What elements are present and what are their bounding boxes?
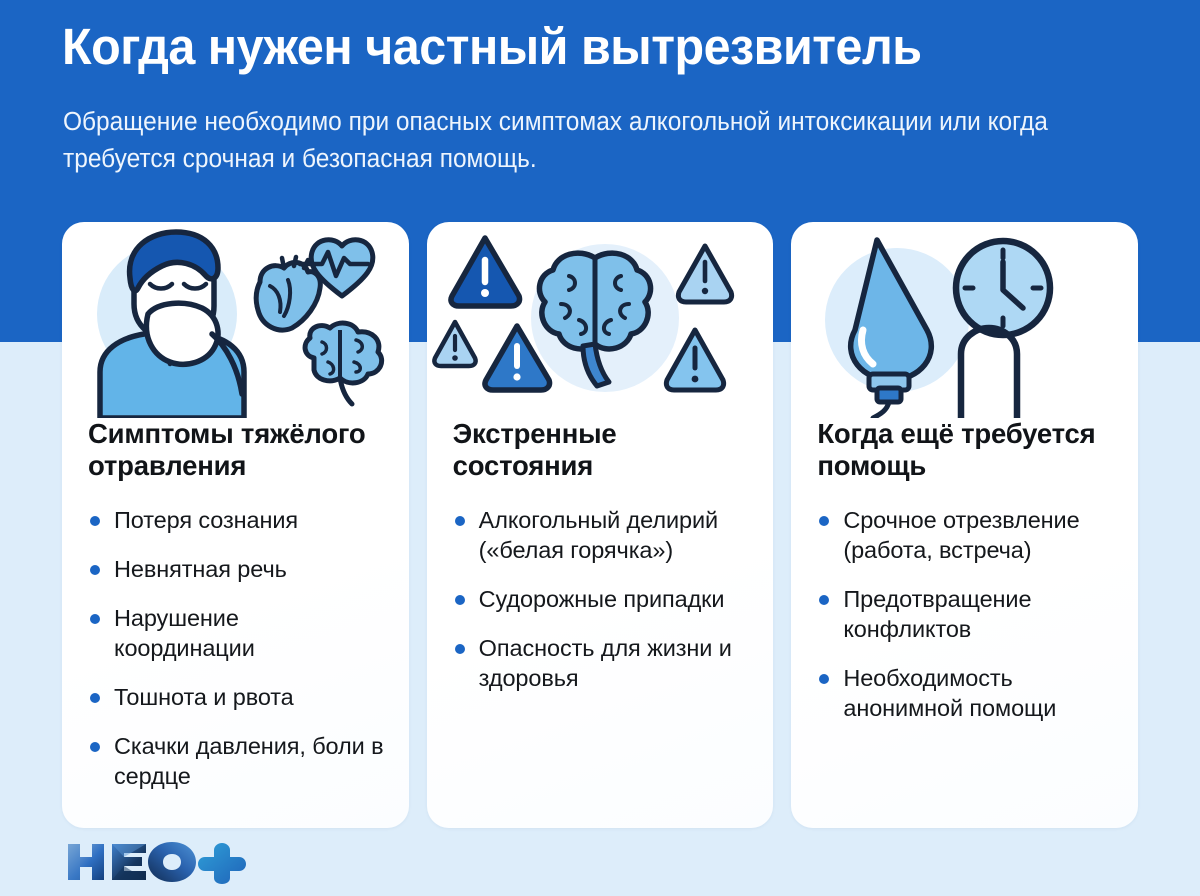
brain-warning-triangles-illustration (427, 222, 774, 418)
list-item: Судорожные припадки (453, 584, 750, 614)
list-item: Невнятная речь (88, 554, 385, 584)
warning-triangle-icon (678, 246, 731, 302)
sick-man-heart-brain-illustration (62, 222, 409, 418)
list-item: Предотвращение конфликтов (817, 584, 1114, 644)
card-emergency-conditions: Экстренные состояния Алкогольный делирий… (427, 222, 774, 828)
card-heading: Экстренные состояния (453, 418, 750, 483)
list-item: Срочное отрезвление (работа, встреча) (817, 505, 1114, 565)
warning-triangle-icon (451, 238, 520, 306)
page-title: Когда нужен частный вытрезвитель (62, 18, 1098, 75)
page-subtitle: Обращение необходимо при опасных симптом… (63, 104, 1081, 178)
tube-icon (961, 328, 1017, 418)
card-body: Симптомы тяжёлого отравления Потеря созн… (62, 418, 409, 791)
list-item: Алкогольный делирий («белая горячка») (453, 505, 750, 565)
bullet-list: Потеря сознания Невнятная речь Нарушение… (88, 505, 385, 792)
card-when-else-help-needed: Когда ещё требуется помощь Срочное отрез… (791, 222, 1138, 828)
clock-icon (956, 241, 1050, 335)
list-item: Тошнота и рвота (88, 682, 385, 712)
bullet-list: Алкогольный делирий («белая горячка») Су… (453, 505, 750, 693)
iv-drip-clock-illustration (791, 222, 1138, 418)
neo-plus-logo: НЕО+ (62, 838, 252, 884)
list-item: Скачки давления, боли в сердце (88, 731, 385, 791)
card-heading: Когда ещё требуется помощь (817, 418, 1114, 483)
card-heading: Симптомы тяжёлого отравления (88, 418, 385, 483)
warning-triangle-icon (434, 322, 475, 366)
card-body: Когда ещё требуется помощь Срочное отрез… (791, 418, 1138, 723)
card-severe-poisoning-symptoms: Симптомы тяжёлого отравления Потеря созн… (62, 222, 409, 828)
card-body: Экстренные состояния Алкогольный делирий… (427, 418, 774, 693)
bullet-list: Срочное отрезвление (работа, встреча) Пр… (817, 505, 1114, 723)
list-item: Нарушение координации (88, 603, 385, 663)
card-row: Симптомы тяжёлого отравления Потеря созн… (62, 222, 1138, 828)
list-item: Необходимость анонимной помощи (817, 663, 1114, 723)
list-item: Опасность для жизни и здоровья (453, 633, 750, 693)
list-item: Потеря сознания (88, 505, 385, 535)
